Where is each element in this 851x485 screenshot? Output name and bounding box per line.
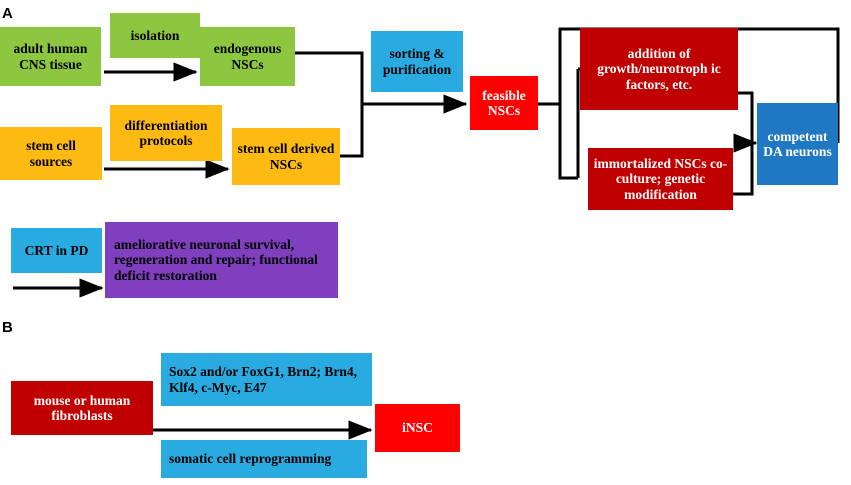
node-reprogramming-factors[interactable]: Sox2 and/or FoxG1, Brn2; Brn4, Klf4, c-M…: [161, 353, 372, 406]
figure-canvas: A B adult human CNS tissue isolation end…: [0, 0, 851, 485]
node-sorting-purification[interactable]: sorting & purification: [371, 31, 463, 92]
node-label: endogenous NSCs: [204, 41, 291, 71]
node-label: ameliorative neuronal survival, regenera…: [114, 237, 332, 282]
node-label: somatic cell reprogramming: [169, 451, 363, 466]
wire-immortal-to-da: [733, 143, 752, 194]
node-mouse-or-human-fibroblasts[interactable]: mouse or human fibroblasts: [11, 381, 153, 435]
node-label: iNSC: [379, 420, 456, 435]
node-label: adult human CNS tissue: [4, 41, 97, 71]
wire-growth-to-da: [738, 93, 752, 143]
node-competent-da-neurons[interactable]: competent DA neurons: [757, 103, 838, 185]
node-isolation[interactable]: isolation: [110, 13, 200, 58]
node-somatic-cell-reprogramming[interactable]: somatic cell reprogramming: [161, 440, 367, 478]
node-growth-neurotrophic-factors[interactable]: addition of growth/neurotroph ic factors…: [580, 28, 738, 110]
node-label: stem cell derived NSCs: [236, 141, 336, 171]
node-label: isolation: [114, 28, 196, 43]
node-crt-in-pd[interactable]: CRT in PD: [11, 228, 102, 273]
wire-derived-to-bus: [340, 104, 362, 156]
node-endogenous-nscs[interactable]: endogenous NSCs: [200, 27, 295, 86]
node-feasible-nscs[interactable]: feasible NSCs: [470, 76, 538, 130]
node-label: Sox2 and/or FoxG1, Brn2; Brn4, Klf4, c-M…: [169, 364, 368, 394]
node-label: CRT in PD: [15, 243, 98, 258]
wire-endogenous-to-bus: [295, 53, 362, 104]
node-label: differentiation protocols: [114, 118, 218, 148]
node-label: immortalized NSCs co-culture; genetic mo…: [592, 156, 729, 201]
node-label: sorting & purification: [375, 46, 459, 76]
node-label: stem cell sources: [4, 138, 98, 168]
node-immortalized-nscs[interactable]: immortalized NSCs co-culture; genetic mo…: [588, 148, 733, 210]
node-adult-human-cns-tissue[interactable]: adult human CNS tissue: [0, 27, 101, 86]
node-label: mouse or human fibroblasts: [15, 393, 149, 423]
node-label: feasible NSCs: [474, 88, 534, 118]
node-insc[interactable]: iNSC: [375, 404, 460, 452]
node-stem-cell-derived-nscs[interactable]: stem cell derived NSCs: [232, 128, 340, 185]
node-label: competent DA neurons: [761, 129, 834, 159]
node-stem-cell-sources[interactable]: stem cell sources: [0, 127, 102, 180]
node-label: addition of growth/neurotroph ic factors…: [584, 46, 734, 91]
wire-feasible-split-lower: [560, 104, 578, 178]
node-outcomes[interactable]: ameliorative neuronal survival, regenera…: [105, 222, 338, 298]
node-differentiation-protocols[interactable]: differentiation protocols: [110, 105, 222, 161]
